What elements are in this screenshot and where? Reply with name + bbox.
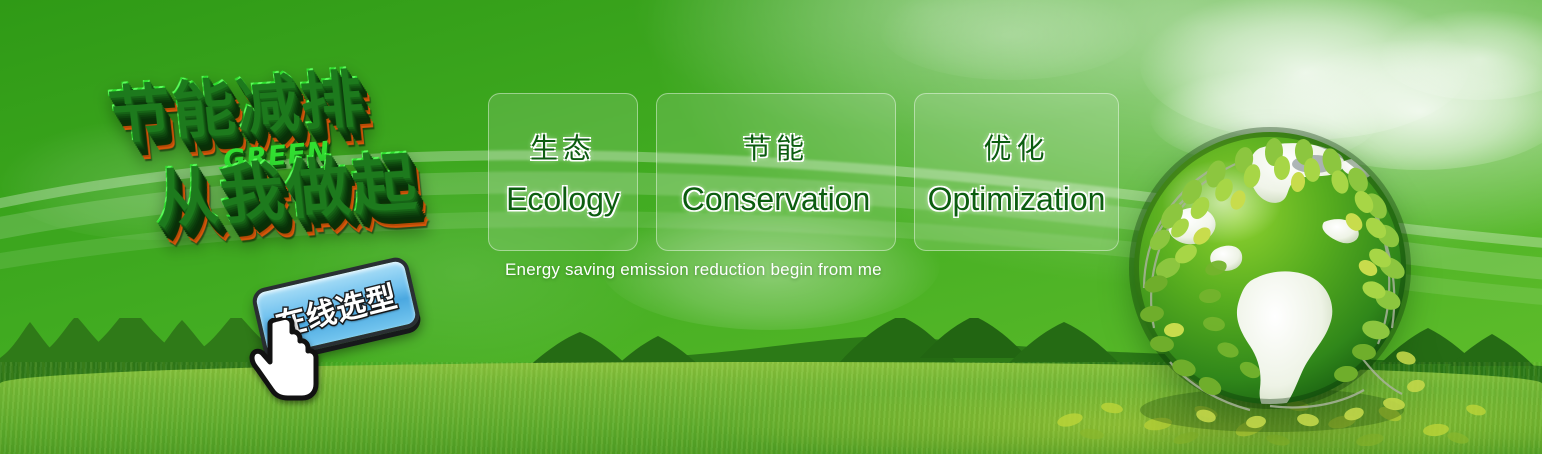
leafy-earth-globe-icon	[1110, 118, 1430, 438]
headline-line-2: 从我做起	[148, 129, 421, 239]
pointer-hand-icon	[248, 318, 324, 402]
eco-promo-banner: 节能减排 GREEN 从我做起 在线选型 生态 Ecology 节能 Conse…	[0, 0, 1542, 454]
feature-card-ecology[interactable]: 生态 Ecology	[488, 93, 638, 251]
feature-card-conservation[interactable]: 节能 Conservation	[656, 93, 896, 251]
feature-card-list: 生态 Ecology 节能 Conservation 优化 Optimizati…	[488, 93, 1119, 251]
feature-card-cn-label: 优化	[983, 127, 1049, 167]
feature-card-en-label: Conservation	[682, 181, 871, 218]
feature-card-cn-label: 节能	[743, 127, 809, 167]
feature-card-en-label: Optimization	[928, 181, 1106, 218]
headline-3d-logo: 节能减排 GREEN 从我做起	[92, 18, 516, 308]
tagline-text: Energy saving emission reduction begin f…	[505, 260, 882, 280]
feature-card-cn-label: 生态	[530, 127, 596, 167]
feature-card-en-label: Ecology	[506, 181, 620, 218]
feature-card-optimization[interactable]: 优化 Optimization	[914, 93, 1119, 251]
